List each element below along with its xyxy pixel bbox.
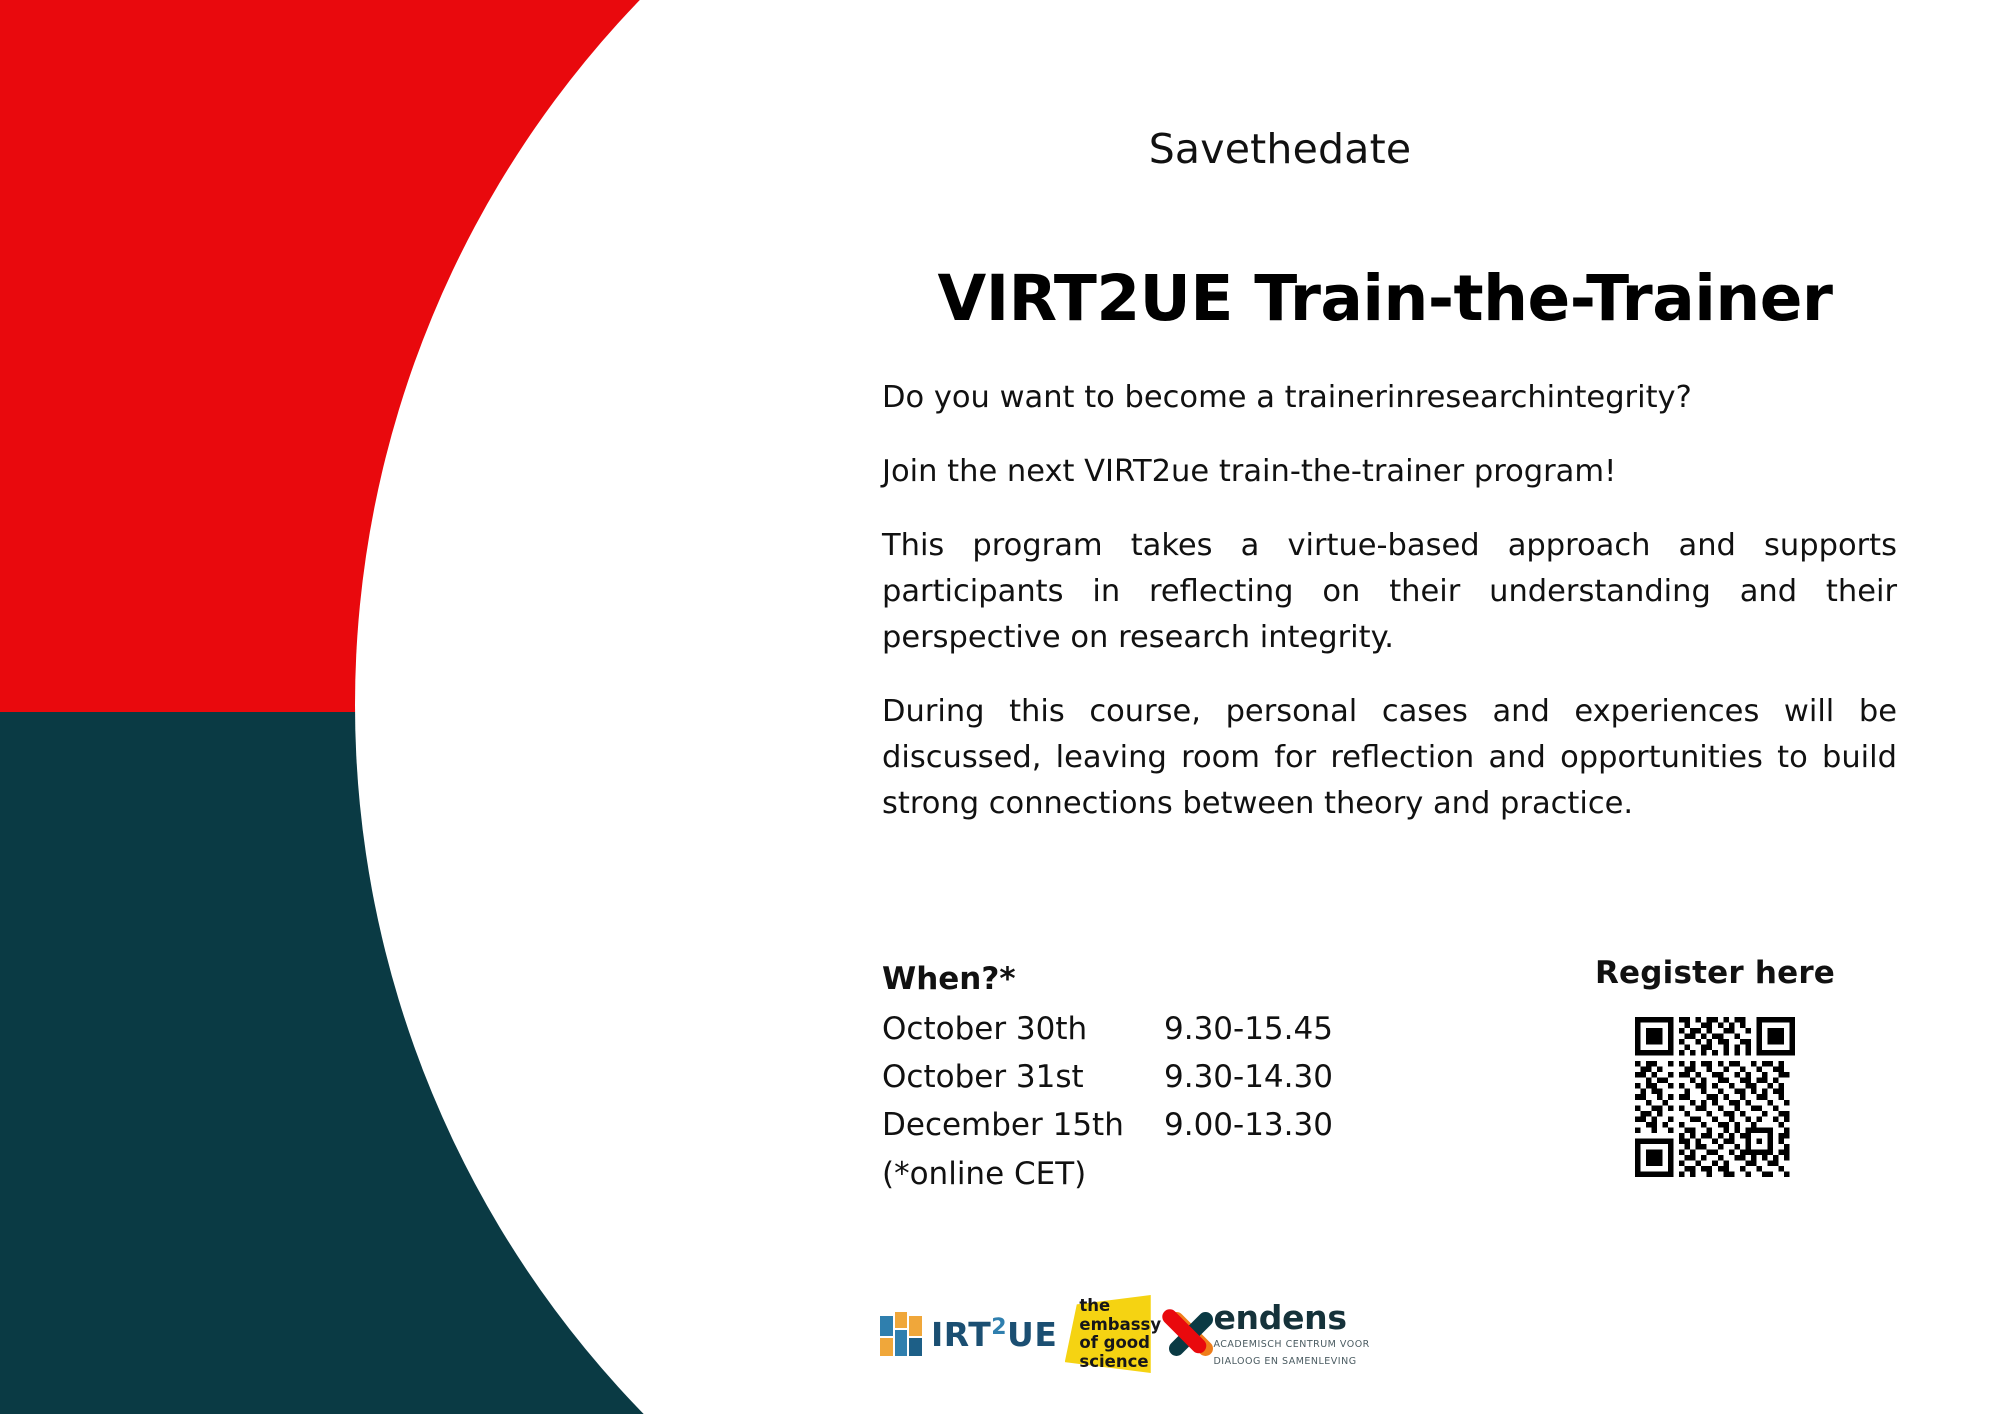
embassy-wordmark: the embassy of good science	[1079, 1297, 1161, 1371]
xendens-x-icon	[1173, 1305, 1210, 1363]
virt2ue-wordmark: IRT2UE	[931, 1317, 1057, 1351]
page-title: VIRT2UE Train-the-Trainer	[880, 262, 1890, 335]
session-date: October 31st	[882, 1053, 1164, 1101]
schedule-note: (*online CET)	[882, 1150, 1333, 1198]
embassy-line-the: the	[1079, 1296, 1110, 1315]
schedule-row: October 31st 9.30-14.30	[882, 1053, 1333, 1101]
embassy-of-good-science-logo: the embassy of good science	[1079, 1295, 1150, 1373]
embassy-line-science: science	[1079, 1352, 1148, 1371]
paragraph-course-detail: During this course, personal cases and e…	[882, 689, 1897, 827]
virt2ue-word-irt: IRT	[931, 1315, 991, 1354]
schedule-row: October 30th 9.30-15.45	[882, 1005, 1333, 1053]
footer-logos: IRT2UE the embassy of good science enden…	[880, 1295, 1400, 1373]
xendens-tagline: ACADEMISCH CENTRUM VOOR DIALOOG EN SAMEN…	[1213, 1339, 1369, 1367]
session-time: 9.00-13.30	[1164, 1101, 1333, 1149]
xendens-wordmark: endens ACADEMISCH CENTRUM VOOR DIALOOG E…	[1213, 1301, 1400, 1368]
xendens-tagline-line1: ACADEMISCH CENTRUM VOOR	[1213, 1339, 1369, 1350]
xendens-name: endens	[1213, 1298, 1346, 1337]
session-date: October 30th	[882, 1005, 1164, 1053]
register-title: Register here	[1550, 955, 1880, 991]
schedule-title: When?*	[882, 955, 1333, 1003]
virt2ue-mark-icon	[880, 1312, 924, 1356]
paragraph-question: Do you want to become a trainerinresearc…	[882, 375, 1897, 421]
eyebrow-text: Savethedate	[880, 125, 1680, 173]
paragraph-approach: This program takes a virtue-based approa…	[882, 523, 1897, 661]
poster-content: Savethedate VIRT2UE Train-the-Trainer Do…	[0, 0, 2000, 1414]
embassy-line-of-good: of good	[1079, 1333, 1150, 1352]
paragraph-invitation: Join the next VIRT2ue train-the-trainer …	[882, 449, 1897, 495]
virt2ue-word-ue: UE	[1007, 1315, 1057, 1354]
register-block: Register here	[1550, 955, 1880, 1177]
schedule-block: When?* October 30th 9.30-15.45 October 3…	[882, 955, 1333, 1198]
xendens-tagline-line2: DIALOOG EN SAMENLEVING	[1213, 1356, 1356, 1367]
xendens-logo: endens ACADEMISCH CENTRUM VOOR DIALOOG E…	[1173, 1301, 1400, 1368]
qr-code-icon[interactable]	[1635, 1017, 1795, 1177]
session-date: December 15th	[882, 1101, 1164, 1149]
virt2ue-superscript: 2	[991, 1315, 1007, 1340]
embassy-line-embassy: embassy	[1079, 1315, 1161, 1334]
session-time: 9.30-15.45	[1164, 1005, 1333, 1053]
qr-code-wrapper[interactable]	[1550, 1017, 1880, 1177]
body-copy: Do you want to become a trainerinresearc…	[882, 375, 1897, 827]
virt2ue-logo: IRT2UE	[880, 1312, 1057, 1356]
schedule-row: December 15th 9.00-13.30	[882, 1101, 1333, 1149]
save-the-date-poster: Savethedate VIRT2UE Train-the-Trainer Do…	[0, 0, 2000, 1414]
session-time: 9.30-14.30	[1164, 1053, 1333, 1101]
